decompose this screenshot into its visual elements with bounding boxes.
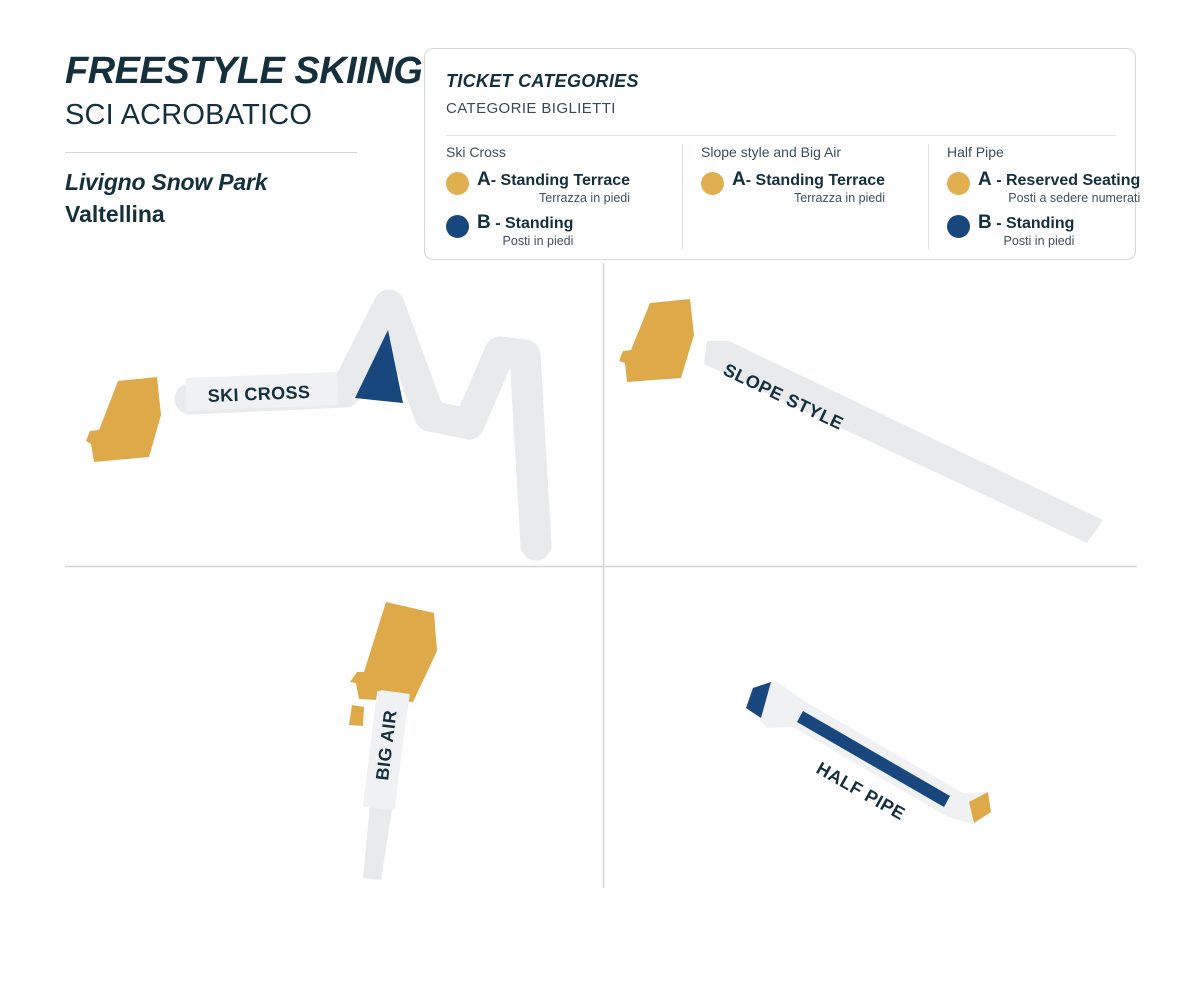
- venue-ski-cross[interactable]: SKI CROSS: [86, 305, 536, 545]
- ski-cross-course: [190, 305, 536, 545]
- slope-style-course: [704, 341, 1103, 543]
- ski-cross-label: SKI CROSS: [207, 382, 310, 406]
- snow-park-map: SKI CROSS SLOPE STYLE: [0, 0, 1200, 1000]
- ski-cross-label-group: SKI CROSS: [185, 372, 338, 411]
- venue-map-page: FREESTYLE SKIING SCI ACROBATICO Livigno …: [0, 0, 1200, 1000]
- venue-slope-style[interactable]: SLOPE STYLE: [619, 299, 1103, 543]
- big-air-terrace-gold-zone[interactable]: [350, 602, 437, 702]
- venue-big-air[interactable]: BIG AIR: [349, 602, 437, 880]
- slope-style-terrace-gold-zone[interactable]: [619, 299, 694, 382]
- big-air-terrace-gold-sliver[interactable]: [349, 705, 364, 726]
- venue-half-pipe[interactable]: HALF PIPE: [746, 681, 991, 824]
- big-air-label-group: BIG AIR: [363, 690, 409, 810]
- ski-cross-terrace-gold-zone[interactable]: [86, 377, 161, 462]
